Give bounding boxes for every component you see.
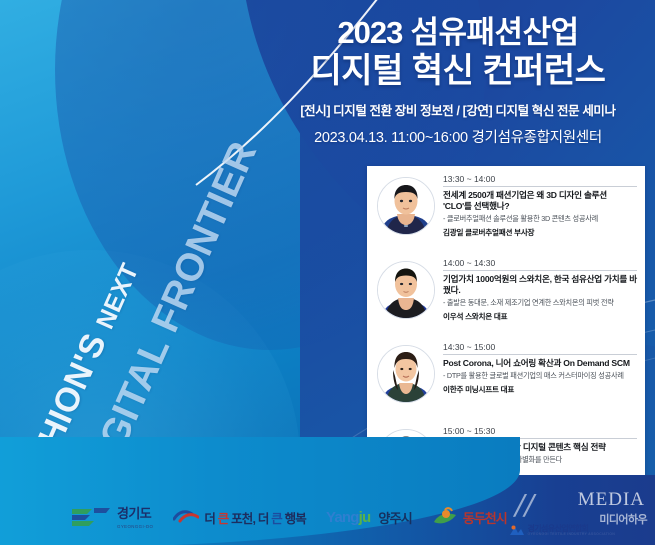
session-body: 13:30 ~ 14:00 전세계 2500개 패션기업은 왜 3D 디자인 솔…: [443, 174, 637, 238]
session-title: 전세계 2500개 패션기업은 왜 3D 디자인 솔루션 'CLO'를 선택했나…: [443, 190, 637, 212]
session-row[interactable]: 14:30 ~ 15:00 Post Corona, 니어 쇼어링 확산과 On…: [367, 334, 645, 418]
session-speaker: 김광일 클로버추얼패션 부사장: [443, 227, 637, 238]
yangju-korean: 양주시: [378, 508, 411, 527]
logo-yangju: Yangju 양주시: [326, 508, 412, 527]
gyeonggi-mark-icon: [70, 505, 112, 529]
session-description: - 출발은 동대문, 소재 제조기업 연계한 스와치온의 피벗 전략: [443, 298, 637, 307]
association-romanized: GYEONGGI TEXTILE INDUSTRY ASSOCIATION: [528, 533, 615, 537]
session-row[interactable]: 14:00 ~ 14:30 기업가치 1000억원의 스와치온, 한국 섬유산업…: [367, 250, 645, 334]
session-time: 14:00 ~ 14:30: [443, 258, 637, 271]
headline-year: 2023: [337, 15, 402, 50]
session-title: 기업가치 1000억원의 스와치온, 한국 섬유산업 가치를 바꿨다.: [443, 274, 637, 296]
association-name: 경기섬유산업연합회GYEONGGI TEXTILE INDUSTRY ASSOC…: [528, 525, 615, 537]
pocheon-emph-2: 큰: [271, 512, 282, 526]
dongducheon-mark-icon: [432, 506, 458, 528]
session-body: 14:00 ~ 14:30 기업가치 1000억원의 스와치온, 한국 섬유산업…: [443, 258, 637, 322]
logo-gyeonggi-do: 경기도 GYEONGGI-DO: [70, 505, 153, 529]
logo-dongducheon: 동두천시: [432, 506, 507, 528]
conference-poster: DIGITAL FRONTIER FASHION'S NEXT 2023 섬유패…: [0, 0, 655, 545]
association-logo: 경기섬유산업연합회GYEONGGI TEXTILE INDUSTRY ASSOC…: [509, 523, 615, 539]
gyeonggi-do-wordmark: 경기도 GYEONGGI-DO: [117, 505, 153, 529]
logo-pocheon: 더 큰 포천, 더 큰 행복: [173, 508, 306, 527]
pocheon-emph-1: 큰: [218, 512, 229, 526]
pocheon-pre: 더: [204, 512, 217, 526]
association-mark-icon: [509, 523, 525, 539]
headline-row-1-text: 섬유패션산업: [410, 15, 578, 50]
session-time: 14:30 ~ 15:00: [443, 342, 637, 355]
speaker-portrait-2: [377, 261, 435, 319]
session-row[interactable]: 13:30 ~ 14:00 전세계 2500개 패션기업은 왜 3D 디자인 솔…: [367, 166, 645, 250]
session-description: - DTP를 활용한 글로벌 패션기업의 매스 커스터마이징 성공사례: [443, 371, 637, 380]
yangju-latin-1: Yang: [326, 509, 359, 526]
speaker-portrait-1: [377, 177, 435, 235]
session-title: Post Corona, 니어 쇼어링 확산과 On Demand SCM: [443, 358, 637, 369]
session-time: 13:30 ~ 14:00: [443, 174, 637, 187]
headline-date-venue: 2023.04.13. 11:00~16:00 경기섬유종합지원센터: [273, 126, 643, 147]
pocheon-mid: 포천, 더: [228, 512, 271, 526]
dongducheon-name: 동두천시: [463, 508, 507, 527]
pocheon-slogan: 더 큰 포천, 더 큰 행복: [204, 508, 306, 527]
gyeonggi-do-name: 경기도: [117, 506, 151, 521]
session-speaker: 이우석 스와치온 대표: [443, 311, 637, 322]
yangju-latin: Yangju: [326, 509, 370, 526]
headline-row-2: 디지털 혁신 컨퍼런스: [273, 52, 643, 91]
pocheon-post: 행복: [282, 512, 306, 526]
session-speaker: 이한주 미닝시프트 대표: [443, 384, 637, 395]
session-description: - 클로버추얼패션 솔루션을 활용한 3D 콘텐츠 성공사례: [443, 214, 637, 223]
session-body: 14:30 ~ 15:00 Post Corona, 니어 쇼어링 확산과 On…: [443, 342, 637, 395]
headline-block: 2023 섬유패션산업 디지털 혁신 컨퍼런스 [전시] 디지털 전환 장비 정…: [273, 16, 643, 147]
yangju-latin-2: ju: [359, 509, 371, 526]
gyeonggi-do-romanized: GYEONGGI-DO: [117, 524, 153, 529]
headline-subtitle: [전시] 디지털 전환 장비 정보전 / [강연] 디지털 혁신 전문 세미나: [273, 100, 643, 119]
speaker-portrait-3: [377, 345, 435, 403]
vertical-tagline-line1-small: NEXT: [91, 259, 145, 333]
pocheon-ribbon-icon: [173, 508, 199, 526]
headline-row-1: 2023 섬유패션산업: [273, 16, 643, 51]
